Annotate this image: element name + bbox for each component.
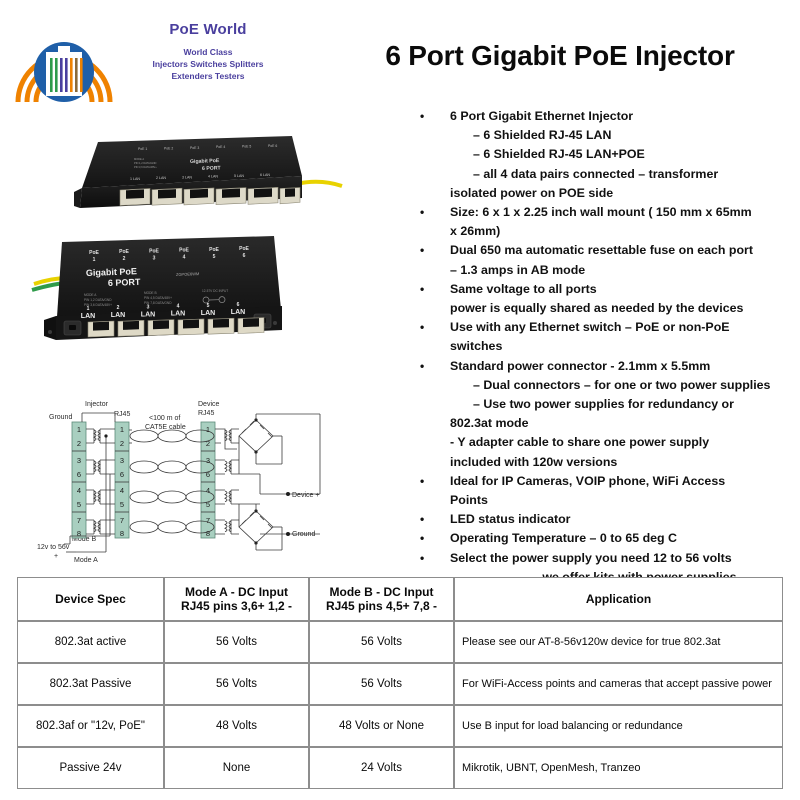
svg-text:3: 3 — [153, 255, 156, 261]
svg-text:4: 4 — [206, 486, 210, 495]
svg-text:PoE: PoE — [89, 250, 99, 256]
cell-mode-b: 56 Volts — [309, 621, 454, 663]
bullet-icon: • — [420, 549, 424, 568]
spec-item: •Use with any Ethernet switch – PoE or n… — [412, 318, 790, 356]
svg-text:1: 1 — [77, 425, 81, 434]
svg-text:4: 4 — [183, 255, 186, 261]
svg-text:PoE: PoE — [209, 247, 219, 253]
spec-item: •Ideal for IP Cameras, VOIP phone, WiFi … — [412, 472, 790, 510]
table-body: 802.3at active56 Volts56 VoltsPlease see… — [17, 621, 783, 789]
spec-continuation-line: - Y adapter cable to share one power sup… — [450, 433, 790, 452]
th-mode-b-line2: RJ45 pins 4,5+ 7,8 - — [314, 599, 449, 613]
cell-mode-a: None — [164, 747, 309, 789]
svg-text:6: 6 — [243, 253, 246, 259]
spec-item-text: Operating Temperature – 0 to 65 deg C — [450, 531, 677, 545]
spec-item-text: Standard power connector - 2.1mm x 5.5mm — [450, 359, 710, 373]
svg-text:PIN 1,2 DATA/GND: PIN 1,2 DATA/GND — [134, 161, 157, 165]
cell-mode-b: 24 Volts — [309, 747, 454, 789]
spec-item: •Dual 650 ma automatic resettable fuse o… — [412, 241, 790, 279]
svg-text:MODE B: MODE B — [144, 291, 157, 295]
table-header-row: Device Spec Mode A - DC Input RJ45 pins … — [17, 577, 783, 621]
th-mode-a-line1: Mode A - DC Input — [169, 585, 304, 599]
svg-text:1: 1 — [87, 306, 90, 312]
svg-text:2: 2 — [120, 439, 124, 448]
svg-text:ZGPOE6WM: ZGPOE6WM — [176, 271, 200, 277]
th-device-spec: Device Spec — [17, 577, 164, 621]
svg-text:2: 2 — [123, 256, 126, 262]
svg-text:8: 8 — [77, 529, 81, 538]
svg-text:3: 3 — [206, 456, 210, 465]
svg-text:<100 m of: <100 m of — [149, 415, 180, 422]
svg-text:5: 5 — [213, 254, 216, 260]
bullet-icon: • — [420, 107, 424, 126]
svg-text:3: 3 — [77, 456, 81, 465]
svg-text:8: 8 — [120, 529, 124, 538]
svg-text:1 LAN: 1 LAN — [130, 177, 140, 181]
spec-continuation-line: Points — [450, 491, 790, 510]
table-row: 802.3at active56 Volts56 VoltsPlease see… — [17, 621, 783, 663]
bullet-icon: • — [420, 357, 424, 376]
svg-text:PoE: PoE — [239, 246, 249, 252]
spec-item: •LED status indicator — [412, 510, 790, 529]
svg-text:MODE A: MODE A — [134, 157, 144, 161]
spec-item-text: Use with any Ethernet switch – PoE or no… — [450, 320, 730, 334]
svg-text:2 LAN: 2 LAN — [156, 176, 166, 180]
svg-text:8: 8 — [206, 529, 210, 538]
tagline-line-3: Extenders Testers — [118, 70, 298, 82]
spec-sub-item: – 6 Shielded RJ-45 LAN — [450, 126, 790, 145]
svg-text:PoE 1: PoE 1 — [138, 147, 147, 151]
svg-text:PoE 5: PoE 5 — [242, 145, 251, 149]
svg-text:Gigabit PoE: Gigabit PoE — [190, 158, 220, 165]
svg-text:LAN: LAN — [171, 311, 185, 318]
bullet-icon: • — [420, 203, 424, 222]
svg-text:LAN: LAN — [231, 309, 245, 316]
spec-sub-item: – Use two power supplies for redundancy … — [450, 395, 790, 414]
svg-text:MODE A: MODE A — [84, 293, 97, 297]
table-row: 802.3af or "12v, PoE"48 Volts48 Volts or… — [17, 705, 783, 747]
spec-continuation-line: switches — [450, 337, 790, 356]
svg-text:7: 7 — [120, 516, 124, 525]
wiring-diagram: Injector RJ45 Device RJ45 Ground <100 m … — [20, 376, 354, 566]
svg-text:4: 4 — [177, 304, 180, 310]
cell-application: For WiFi-Access points and cameras that … — [454, 663, 783, 705]
svg-text:PoE: PoE — [149, 248, 159, 254]
svg-text:6 LAN: 6 LAN — [260, 173, 270, 177]
cell-device-spec: 802.3af or "12v, PoE" — [17, 705, 164, 747]
svg-text:Device +: Device + — [292, 492, 319, 499]
svg-text:2: 2 — [117, 305, 120, 311]
th-application: Application — [454, 577, 783, 621]
spec-continuation-line: – 1.3 amps in AB mode — [450, 261, 790, 280]
svg-text:6: 6 — [120, 470, 124, 479]
spec-continuation-line: x 26mm) — [450, 222, 790, 241]
svg-text:5: 5 — [77, 500, 81, 509]
svg-text:12v to 56v: 12v to 56v — [37, 544, 70, 551]
cell-application: Use B input for load balancing or redund… — [454, 705, 783, 747]
th-mode-a-line2: RJ45 pins 3,6+ 1,2 - — [169, 599, 304, 613]
svg-text:4: 4 — [120, 486, 124, 495]
tagline-line-2: Injectors Switches Splitters — [118, 58, 298, 70]
brand-name: PoE World — [118, 22, 298, 39]
svg-text:7: 7 — [77, 516, 81, 525]
bullet-icon: • — [420, 280, 424, 299]
table-row: Passive 24vNone24 VoltsMikrotik, UBNT, O… — [17, 747, 783, 789]
svg-text:1: 1 — [120, 425, 124, 434]
brand-tagline: World Class Injectors Switches Splitters… — [118, 46, 298, 83]
svg-text:Mode A: Mode A — [74, 557, 98, 564]
svg-text:LAN: LAN — [141, 311, 155, 318]
svg-text:6 PORT: 6 PORT — [108, 277, 141, 288]
bullet-icon: • — [420, 472, 424, 491]
spec-sub-item: – 6 Shielded RJ-45 LAN+POE — [450, 145, 790, 164]
th-application-line1: Application — [459, 592, 778, 606]
spec-item: •Standard power connector - 2.1mm x 5.5m… — [412, 357, 790, 472]
product-photo-top: PoE1 PoE2 PoE3 PoE4 PoE5 PoE6 Gigabit Po… — [26, 228, 326, 354]
spec-sub-item: – Dual connectors – for one or two power… — [450, 376, 790, 395]
svg-text:Ground: Ground — [292, 531, 315, 538]
svg-text:PIN 1,2 DATA/GND: PIN 1,2 DATA/GND — [84, 298, 112, 302]
svg-text:LAN: LAN — [111, 312, 125, 319]
spec-item-text: Dual 650 ma automatic resettable fuse on… — [450, 243, 753, 257]
svg-text:PoE 6: PoE 6 — [268, 144, 277, 148]
svg-text:Gigabit PoE: Gigabit PoE — [86, 266, 137, 278]
tagline-line-1: World Class — [118, 46, 298, 58]
cell-device-spec: 802.3at active — [17, 621, 164, 663]
svg-text:1: 1 — [206, 425, 210, 434]
spec-item-text: Same voltage to all ports — [450, 282, 597, 296]
svg-text:PIN 3,6 DATA/48V+: PIN 3,6 DATA/48V+ — [134, 165, 157, 169]
svg-text:PoE: PoE — [119, 249, 129, 255]
spec-item: •Size: 6 x 1 x 2.25 inch wall mount ( 15… — [412, 203, 790, 241]
th-device-spec-line1: Device Spec — [22, 592, 159, 606]
spec-item-text: Select the power supply you need 12 to 5… — [450, 551, 732, 565]
page-header: PoE World World Class Injectors Switches… — [0, 0, 800, 100]
th-mode-b: Mode B - DC Input RJ45 pins 4,5+ 7,8 - — [309, 577, 454, 621]
cell-mode-a: 48 Volts — [164, 705, 309, 747]
spec-item-text: LED status indicator — [450, 512, 570, 526]
svg-text:7: 7 — [206, 516, 210, 525]
cell-application: Mikrotik, UBNT, OpenMesh, Tranzeo — [454, 747, 783, 789]
svg-text:5: 5 — [207, 303, 210, 309]
svg-text:PIN 4,5 DATA/48V+: PIN 4,5 DATA/48V+ — [144, 296, 172, 300]
spec-item-text: 6 Port Gigabit Ethernet Injector — [450, 109, 633, 123]
svg-text:PoE 3: PoE 3 — [190, 146, 199, 150]
poe-world-logo-icon — [12, 16, 116, 106]
svg-text:LAN: LAN — [201, 310, 215, 317]
svg-text:PoE 4: PoE 4 — [216, 145, 225, 149]
svg-text:5 LAN: 5 LAN — [234, 174, 244, 178]
th-mode-b-line1: Mode B - DC Input — [314, 585, 449, 599]
svg-text:+: + — [54, 553, 58, 560]
svg-text:1: 1 — [93, 257, 96, 263]
spec-bullet-list: •6 Port Gigabit Ethernet Injector– 6 Shi… — [412, 107, 790, 587]
svg-text:5: 5 — [120, 500, 124, 509]
svg-text:3: 3 — [120, 456, 124, 465]
svg-text:2: 2 — [77, 439, 81, 448]
svg-text:RJ45: RJ45 — [114, 411, 130, 418]
cell-device-spec: Passive 24v — [17, 747, 164, 789]
page-title: 6 Port Gigabit PoE Injector — [330, 40, 790, 72]
svg-text:6 PORT: 6 PORT — [202, 165, 222, 172]
svg-text:PoE: PoE — [179, 248, 189, 254]
spec-sub-item: – all 4 data pairs connected – transform… — [450, 165, 790, 184]
cell-device-spec: 802.3at Passive — [17, 663, 164, 705]
bullet-icon: • — [420, 241, 424, 260]
svg-text:RJ45: RJ45 — [198, 410, 214, 417]
brand-block: PoE World World Class Injectors Switches… — [118, 22, 298, 82]
svg-text:LAN: LAN — [81, 313, 95, 320]
cell-application: Please see our AT-8-56v120w device for t… — [454, 621, 783, 663]
spec-item: •6 Port Gigabit Ethernet Injector– 6 Shi… — [412, 107, 790, 203]
table-row: 802.3at Passive56 Volts56 VoltsFor WiFi-… — [17, 663, 783, 705]
spec-item: •Same voltage to all portspower is equal… — [412, 280, 790, 318]
svg-text:6: 6 — [77, 470, 81, 479]
svg-text:4 LAN: 4 LAN — [208, 175, 218, 179]
svg-text:Ground: Ground — [49, 414, 72, 421]
cell-mode-b: 56 Volts — [309, 663, 454, 705]
spec-item-text: Size: 6 x 1 x 2.25 inch wall mount ( 150… — [450, 205, 752, 219]
svg-text:4: 4 — [77, 486, 81, 495]
bullet-icon: • — [420, 529, 424, 548]
spec-continuation-line: isolated power on POE side — [450, 184, 790, 203]
svg-text:Device: Device — [198, 401, 220, 408]
svg-text:3 LAN: 3 LAN — [182, 175, 192, 179]
spec-item: •Operating Temperature – 0 to 65 deg C — [412, 529, 790, 548]
device-spec-table: Device Spec Mode A - DC Input RJ45 pins … — [17, 577, 783, 789]
spec-continuation-line: power is equally shared as needed by the… — [450, 299, 790, 318]
svg-text:PoE 2: PoE 2 — [164, 146, 173, 150]
spec-item-text: Ideal for IP Cameras, VOIP phone, WiFi A… — [450, 474, 725, 488]
bullet-icon: • — [420, 510, 424, 529]
product-photo-angled: PoE 1PoE 2 PoE 3PoE 4 PoE 5PoE 6 Gigabit… — [34, 118, 346, 222]
spec-continuation-line: 802.3at mode — [450, 414, 790, 433]
cell-mode-b: 48 Volts or None — [309, 705, 454, 747]
svg-text:6: 6 — [237, 302, 240, 308]
cell-mode-a: 56 Volts — [164, 621, 309, 663]
spec-continuation-line: included with 120w versions — [450, 453, 790, 472]
svg-text:12-57V DC INPUT: 12-57V DC INPUT — [202, 289, 228, 293]
th-mode-a: Mode A - DC Input RJ45 pins 3,6+ 1,2 - — [164, 577, 309, 621]
cell-mode-a: 56 Volts — [164, 663, 309, 705]
svg-text:3: 3 — [147, 304, 150, 310]
svg-text:Injector: Injector — [85, 401, 109, 408]
bullet-icon: • — [420, 318, 424, 337]
svg-text:CAT5E cable: CAT5E cable — [145, 424, 186, 431]
